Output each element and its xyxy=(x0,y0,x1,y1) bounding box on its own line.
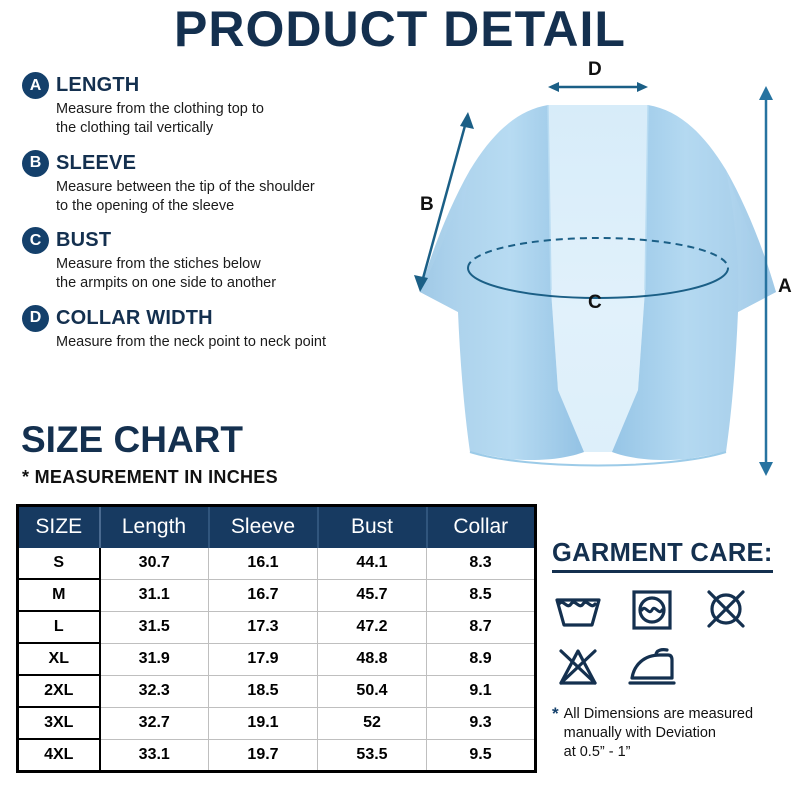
legend-head: A LENGTH xyxy=(22,72,392,99)
table-row: XL 31.9 17.9 48.8 8.9 xyxy=(18,643,536,675)
cell-sleeve: 17.3 xyxy=(209,611,318,643)
cell-size: L xyxy=(18,611,100,643)
cell-length: 31.5 xyxy=(100,611,209,643)
cell-sleeve: 16.7 xyxy=(209,579,318,611)
table-row: 4XL 33.1 19.7 53.5 9.5 xyxy=(18,739,536,772)
legend-head: D COLLAR WIDTH xyxy=(22,305,392,332)
cell-sleeve: 19.7 xyxy=(209,739,318,772)
care-icon-list xyxy=(552,587,787,689)
table-header-row: SIZE Length Sleeve Bust Collar xyxy=(18,506,536,549)
size-chart-table: SIZE Length Sleeve Bust Collar S 30.7 16… xyxy=(16,504,537,773)
measurement-legend: A LENGTH Measure from the clothing top t… xyxy=(22,72,392,363)
cell-collar: 8.9 xyxy=(427,643,536,675)
cell-collar: 8.7 xyxy=(427,611,536,643)
table-row: S 30.7 16.1 44.1 8.3 xyxy=(18,548,536,579)
legend-desc-line: Measure from the neck point to neck poin… xyxy=(56,333,392,352)
legend-desc-line: the armpits on one side to another xyxy=(56,274,392,293)
legend-desc-line: Measure between the tip of the shoulder xyxy=(56,178,392,197)
badge-c-icon: C xyxy=(22,227,49,254)
cell-length: 31.1 xyxy=(100,579,209,611)
legend-head: B SLEEVE xyxy=(22,150,392,177)
table-row: L 31.5 17.3 47.2 8.7 xyxy=(18,611,536,643)
deviation-line: All Dimensions are measured xyxy=(564,706,753,722)
cell-size: 3XL xyxy=(18,707,100,739)
cell-bust: 44.1 xyxy=(318,548,427,579)
wash-tub-icon xyxy=(552,587,604,631)
cell-sleeve: 18.5 xyxy=(209,675,318,707)
column-header-bust: Bust xyxy=(318,506,427,549)
cell-bust: 47.2 xyxy=(318,611,427,643)
cell-sleeve: 16.1 xyxy=(209,548,318,579)
tumble-dry-icon xyxy=(626,587,678,631)
legend-item-sleeve: B SLEEVE Measure between the tip of the … xyxy=(22,150,392,217)
legend-head: C BUST xyxy=(22,227,392,254)
cell-length: 31.9 xyxy=(100,643,209,675)
legend-desc-collar-width: Measure from the neck point to neck poin… xyxy=(56,333,392,352)
legend-desc-sleeve: Measure between the tip of the shoulder … xyxy=(56,178,392,217)
cell-length: 30.7 xyxy=(100,548,209,579)
table-row: 3XL 32.7 19.1 52 9.3 xyxy=(18,707,536,739)
column-header-sleeve: Sleeve xyxy=(209,506,318,549)
dimension-label-d: D xyxy=(588,60,602,80)
cell-bust: 50.4 xyxy=(318,675,427,707)
deviation-star: * xyxy=(552,705,559,762)
cell-length: 32.3 xyxy=(100,675,209,707)
size-chart-heading: SIZE CHART xyxy=(21,421,243,458)
legend-desc-length: Measure from the clothing top to the clo… xyxy=(56,100,392,139)
iron-icon xyxy=(626,645,678,689)
dimension-arrow-d xyxy=(548,82,648,92)
legend-desc-line: Measure from the clothing top to xyxy=(56,100,392,119)
cell-bust: 48.8 xyxy=(318,643,427,675)
badge-d-icon: D xyxy=(22,305,49,332)
deviation-line: manually with Deviation xyxy=(564,725,716,741)
cell-collar: 8.3 xyxy=(427,548,536,579)
legend-desc-line: the clothing tail vertically xyxy=(56,119,392,138)
garment-care-heading: GARMENT CARE: xyxy=(552,540,773,573)
legend-desc-line: to the opening of the sleeve xyxy=(56,197,392,216)
deviation-line: at 0.5” - 1” xyxy=(564,744,631,760)
cell-sleeve: 19.1 xyxy=(209,707,318,739)
garment-care-section: GARMENT CARE: xyxy=(552,540,792,762)
legend-item-bust: C BUST Measure from the stiches below th… xyxy=(22,227,392,294)
cell-bust: 45.7 xyxy=(318,579,427,611)
cell-sleeve: 17.9 xyxy=(209,643,318,675)
cell-size: 2XL xyxy=(18,675,100,707)
cell-collar: 8.5 xyxy=(427,579,536,611)
cell-collar: 9.3 xyxy=(427,707,536,739)
column-header-size: SIZE xyxy=(18,506,100,549)
legend-desc-bust: Measure from the stiches below the armpi… xyxy=(56,255,392,294)
cell-size: M xyxy=(18,579,100,611)
deviation-text: All Dimensions are measured manually wit… xyxy=(564,705,753,762)
table-row: 2XL 32.3 18.5 50.4 9.1 xyxy=(18,675,536,707)
legend-title-length: LENGTH xyxy=(56,74,139,97)
column-header-collar: Collar xyxy=(427,506,536,549)
garment-lining xyxy=(548,105,648,452)
cell-size: 4XL xyxy=(18,739,100,772)
legend-title-sleeve: SLEEVE xyxy=(56,152,136,175)
legend-title-bust: BUST xyxy=(56,229,111,252)
do-not-dry-clean-icon xyxy=(700,587,752,631)
legend-item-collar-width: D COLLAR WIDTH Measure from the neck poi… xyxy=(22,305,392,352)
cell-size: XL xyxy=(18,643,100,675)
page-title: PRODUCT DETAIL xyxy=(0,2,800,57)
dimension-label-b: B xyxy=(420,194,434,215)
dimension-label-c: C xyxy=(588,292,602,313)
cell-collar: 9.1 xyxy=(427,675,536,707)
cell-collar: 9.5 xyxy=(427,739,536,772)
do-not-bleach-icon xyxy=(552,645,604,689)
table-row: M 31.1 16.7 45.7 8.5 xyxy=(18,579,536,611)
cell-bust: 52 xyxy=(318,707,427,739)
dimension-label-a: A xyxy=(778,276,792,297)
column-header-length: Length xyxy=(100,506,209,549)
deviation-note: * All Dimensions are measured manually w… xyxy=(552,705,792,762)
badge-b-icon: B xyxy=(22,150,49,177)
garment-illustration: C D B A xyxy=(398,60,798,480)
cell-size: S xyxy=(18,548,100,579)
badge-a-icon: A xyxy=(22,72,49,99)
legend-title-collar-width: COLLAR WIDTH xyxy=(56,307,213,330)
cell-bust: 53.5 xyxy=(318,739,427,772)
legend-item-length: A LENGTH Measure from the clothing top t… xyxy=(22,72,392,139)
cell-length: 32.7 xyxy=(100,707,209,739)
cell-length: 33.1 xyxy=(100,739,209,772)
legend-desc-line: Measure from the stiches below xyxy=(56,255,392,274)
measurement-unit-note: * MEASUREMENT IN INCHES xyxy=(22,467,278,488)
